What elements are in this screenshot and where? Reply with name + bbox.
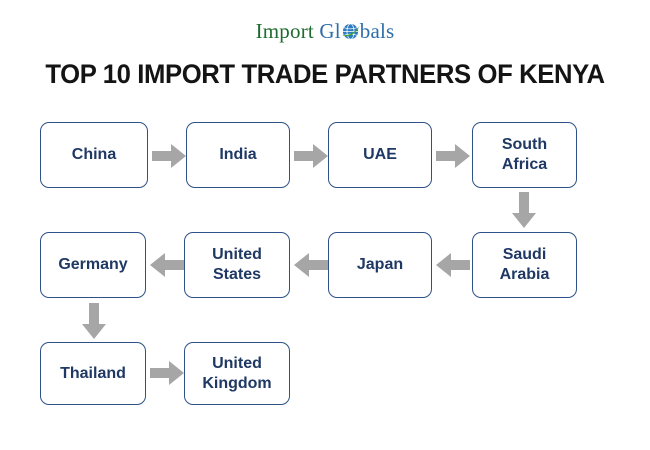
flow-node-united-states[interactable]: United States (184, 232, 290, 298)
flow-node-label: Thailand (60, 364, 126, 384)
flow-node-label: China (72, 145, 116, 165)
arrow-down-south-africa-saudi-arabia (512, 192, 536, 228)
flow-node-united-kingdom[interactable]: United Kingdom (184, 342, 290, 405)
flow-node-label: Saudi Arabia (500, 245, 550, 285)
flow-node-south-africa[interactable]: South Africa (472, 122, 577, 188)
flow-node-label: United Kingdom (202, 354, 271, 394)
arrow-right-india-uae (294, 144, 328, 168)
flow-node-uae[interactable]: UAE (328, 122, 432, 188)
flow-node-india[interactable]: India (186, 122, 290, 188)
brand-logo: Import Gl bals (0, 18, 650, 44)
flow-node-thailand[interactable]: Thailand (40, 342, 146, 405)
flow-node-japan[interactable]: Japan (328, 232, 432, 298)
flow-node-label: United States (212, 245, 262, 285)
arrow-right-thailand-united-kingdom (150, 361, 184, 385)
flow-node-germany[interactable]: Germany (40, 232, 146, 298)
arrow-right-china-india (152, 144, 186, 168)
flow-node-label: South Africa (502, 135, 547, 175)
flow-node-label: India (219, 145, 256, 165)
arrow-left-japan-united-states (294, 253, 328, 277)
slide-canvas: Import Gl bals TOP 10 IMPORT TRADE PARTN… (0, 0, 650, 450)
arrow-left-united-states-germany (150, 253, 184, 277)
arrow-right-uae-south-africa (436, 144, 470, 168)
globe-icon (341, 21, 360, 40)
logo-text-gl: Gl (319, 19, 340, 43)
flow-node-label: Japan (357, 255, 403, 275)
arrow-left-saudi-arabia-japan (436, 253, 470, 277)
page-title: TOP 10 IMPORT TRADE PARTNERS OF KENYA (16, 57, 634, 91)
flow-node-label: Germany (58, 255, 127, 275)
flow-node-saudi-arabia[interactable]: Saudi Arabia (472, 232, 577, 298)
flow-node-label: UAE (363, 145, 397, 165)
flow-node-china[interactable]: China (40, 122, 148, 188)
logo-text-import: Import (256, 19, 314, 43)
logo-text-bals: bals (360, 19, 395, 43)
arrow-down-germany-thailand (82, 303, 106, 339)
